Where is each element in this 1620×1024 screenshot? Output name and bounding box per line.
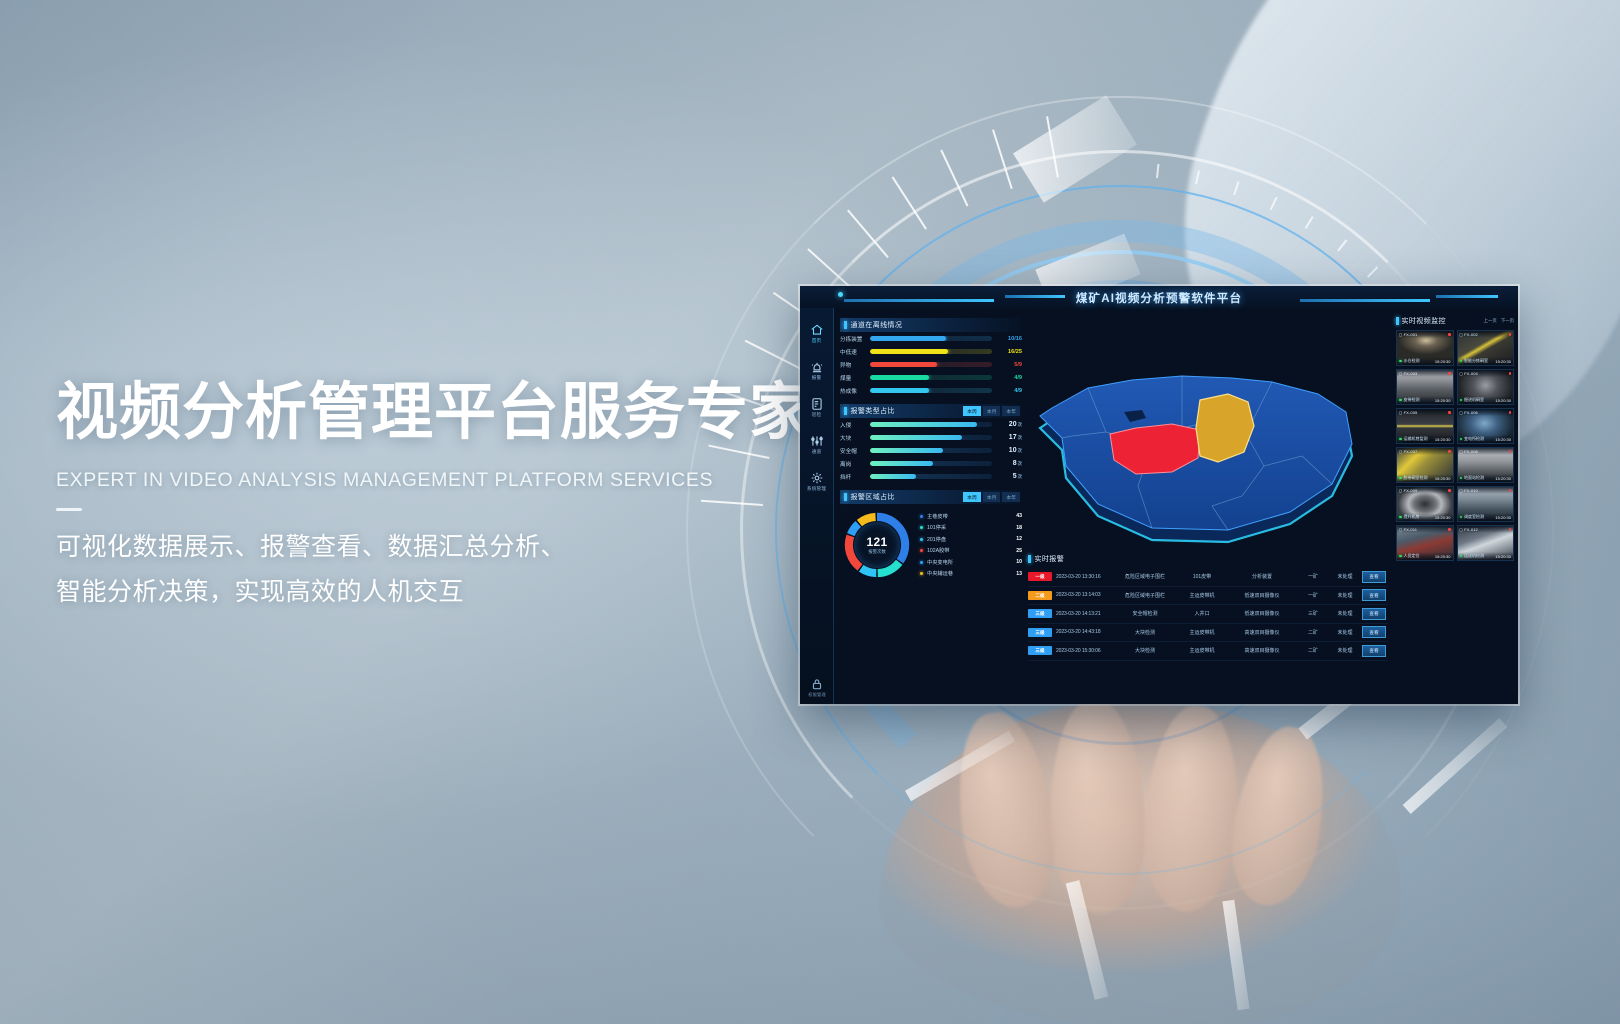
video-tile-bottombar: 智能分拣硐室15:20:30 <box>1458 357 1514 365</box>
camera-timestamp: 15:20:30 <box>1495 554 1511 559</box>
video-tile-topbar: ◻ FX-010 <box>1458 487 1514 494</box>
cell-status: 未处理 <box>1330 647 1360 654</box>
status-badge: 三级 <box>1028 646 1052 655</box>
camera-name: 人员定位 <box>1404 553 1420 559</box>
record-indicator-icon <box>1448 528 1451 531</box>
video-tile[interactable]: ◻ FX-003皮带检测15:20:30 <box>1396 369 1454 405</box>
alarm-type-row: 挡杆5次 <box>840 470 1022 483</box>
alarm-type-row: 大块17次 <box>840 431 1022 444</box>
camera-timestamp: 15:20:30 <box>1435 398 1451 403</box>
cell-time: 2023-03-20 13:14:03 <box>1052 592 1114 598</box>
cell-time: 2023-03-20 14:43:18 <box>1052 629 1114 635</box>
donut-legend-row: 中央变电所10 <box>920 557 1022 569</box>
record-indicator-icon <box>1448 450 1451 453</box>
camera-timestamp: 15:20:30 <box>1435 476 1451 481</box>
legend-value: 10 <box>1016 559 1022 565</box>
online-status-icon <box>1460 555 1463 558</box>
alarm-type-fill <box>870 435 962 440</box>
video-tile-bottombar: 人员定位15:20:30 <box>1397 552 1453 560</box>
sidebar-label-home: 首页 <box>801 338 833 344</box>
camera-id: ◻ FX-005 <box>1399 410 1417 415</box>
online-status-icon <box>1399 477 1402 480</box>
cell-status: 未处理 <box>1330 610 1360 617</box>
video-tile-bottombar: 提升机房15:20:30 <box>1397 513 1453 521</box>
camera-timestamp: 15:20:30 <box>1495 437 1511 442</box>
tab-本年[interactable]: 本年 <box>1002 406 1020 416</box>
channel-row-track <box>870 336 992 341</box>
status-badge: 一级 <box>1028 572 1052 581</box>
record-indicator-icon <box>1509 411 1512 414</box>
camera-id: ◻ FX-012 <box>1460 527 1478 532</box>
alarm-type-rows-list: 入侵20次大块17次安全帽10次离岗8次挡杆5次 <box>840 418 1022 483</box>
cell-status: 未处理 <box>1330 629 1360 636</box>
video-tile[interactable]: ◻ FX-011人员定位15:20:30 <box>1396 525 1454 561</box>
alarm-type-label: 挡杆 <box>840 473 866 481</box>
camera-timestamp: 15:20:30 <box>1435 515 1451 520</box>
table-row[interactable]: 二级2023-03-20 13:14:03危险区域电子围栏主运皮带机低速双目摄像… <box>1028 587 1388 606</box>
status-badge: 二级 <box>1028 591 1052 600</box>
video-tile[interactable]: ◻ FX-002智能分拣硐室15:20:30 <box>1457 330 1515 366</box>
cell-action: 查看 <box>1360 645 1388 657</box>
camera-name: 变电所检测 <box>1464 436 1484 442</box>
header-deco-left2 <box>1005 295 1065 298</box>
alarm-type-track <box>870 448 992 453</box>
video-tile[interactable]: ◻ FX-005运输机巷监测15:20:30 <box>1396 408 1454 444</box>
alarm-type-card-title: 报警类型占比 <box>851 406 895 416</box>
donut-center: 121 报警次数 <box>854 522 900 568</box>
cell-type: 危险区域电子围栏 <box>1114 573 1176 580</box>
video-tile[interactable]: ◻ FX-012运送机检测15:20:30 <box>1457 525 1515 561</box>
channel-row-track <box>870 388 992 393</box>
video-tile-bottombar: 运输机巷监测15:20:30 <box>1397 435 1453 443</box>
video-tile-bottombar: 地面站检测15:20:30 <box>1458 474 1514 482</box>
camera-id: ◻ FX-009 <box>1399 488 1417 493</box>
donut-legend-row: 中央辅运巷13 <box>920 568 1022 580</box>
cell-type: 安全帽检测 <box>1114 610 1176 617</box>
video-tile[interactable]: ◻ FX-010调度室检测15:20:30 <box>1457 486 1515 522</box>
cell-mine: 三矿 <box>1296 610 1330 617</box>
sidebar-item-system[interactable]: 系统管理 <box>801 470 833 492</box>
legend-value: 25 <box>1016 548 1022 554</box>
alarm-type-fill <box>870 474 916 479</box>
alarm-type-label: 安全帽 <box>840 447 866 455</box>
channel-row-label: 热成像 <box>840 387 866 395</box>
alarm-type-value: 10次 <box>996 447 1022 454</box>
channel-row-value: 16/25 <box>996 349 1022 355</box>
channel-row-fill <box>870 362 937 367</box>
donut-legend-row: 101停采18 <box>920 522 1022 534</box>
alarm-type-row: 安全帽10次 <box>840 444 1022 457</box>
channel-row-value: 4/9 <box>996 388 1022 394</box>
legend-value: 13 <box>1016 571 1022 577</box>
video-tile-topbar: ◻ FX-012 <box>1458 526 1514 533</box>
channel-row-value: 10/16 <box>996 336 1022 342</box>
donut-total: 121 <box>867 535 888 549</box>
channel-rows-list: 分拣装置10/16中低速16/25异物5/9煤量4/9热成像4/9 <box>840 332 1022 397</box>
tab-本月[interactable]: 本月 <box>983 492 1001 502</box>
status-badge: 三级 <box>1028 628 1052 637</box>
alarm-type-value: 20次 <box>996 421 1022 428</box>
channel-row: 热成像4/9 <box>840 384 1022 397</box>
alarm-area-card-title: 报警区域占比 <box>851 492 895 502</box>
tab-本年[interactable]: 本年 <box>1002 492 1020 502</box>
video-tile-bottombar: 调度室检测15:20:30 <box>1458 513 1514 521</box>
hero-desc-line-1: 可视化数据展示、报警查看、数据汇总分析、 <box>56 525 836 570</box>
cell-mine: 一矿 <box>1296 573 1330 580</box>
video-monitor-panel: 实时视频监控 上一页 下一页 ◻ FX-001水仓检测15:20:30◻ FX-… <box>1396 316 1514 561</box>
alarm-type-row: 入侵20次 <box>840 418 1022 431</box>
cell-status: 未处理 <box>1330 573 1360 580</box>
alarm-type-fill <box>870 448 943 453</box>
video-panel-header: 实时视频监控 上一页 下一页 <box>1396 316 1514 326</box>
online-status-icon <box>1460 438 1463 441</box>
alarm-area-chart-wrap: 121 报警次数 主巷皮带43101停采18201停盘12102A胶带25中央变… <box>840 508 1022 582</box>
video-tile-bottombar: 运送机检测15:20:30 <box>1458 552 1514 560</box>
cell-time: 2023-03-20 15:30:06 <box>1052 648 1114 654</box>
video-tile-bottombar: 变电所检测15:20:30 <box>1458 435 1514 443</box>
camera-id: ◻ FX-004 <box>1460 371 1478 376</box>
video-tile-topbar: ◻ FX-001 <box>1397 331 1453 338</box>
sidebar-label-channel: 通道 <box>801 449 833 455</box>
alarm-type-track <box>870 474 992 479</box>
divider <box>56 508 82 511</box>
camera-timestamp: 15:20:30 <box>1495 359 1511 364</box>
donut-legend: 主巷皮带43101停采18201停盘12102A胶带25中央变电所10中央辅运巷… <box>914 511 1022 580</box>
header-deco-left <box>844 299 994 302</box>
legend-value: 18 <box>1016 525 1022 531</box>
channel-row-track <box>870 349 992 354</box>
camera-id: ◻ FX-008 <box>1460 449 1478 454</box>
legend-dot <box>920 572 923 575</box>
table-row[interactable]: 三级2023-03-20 15:30:06大块检测主运皮带机高速双目摄像仪二矿未… <box>1028 642 1388 661</box>
legend-name: 主巷皮带 <box>927 513 1016 520</box>
lock-icon <box>800 676 834 691</box>
dashboard-screen: 煤矿AI视频分析预警软件平台 首页 报警 巡检 <box>800 286 1518 704</box>
alarm-type-value: 17次 <box>996 434 1022 441</box>
channel-card-header: 通道在离线情况 <box>840 318 1022 332</box>
camera-timestamp: 15:20:30 <box>1495 476 1511 481</box>
tab-本周[interactable]: 本周 <box>963 492 981 502</box>
hero-text-block: 视频分析管理平台服务专家 EXPERT IN VIDEO ANALYSIS MA… <box>56 378 836 614</box>
online-status-icon <box>1460 477 1463 480</box>
sidebar-item-home[interactable]: 首页 <box>801 322 833 344</box>
cell-device: 分析装置 <box>1228 573 1296 580</box>
gear-icon <box>801 470 833 485</box>
legend-name: 102A胶带 <box>927 547 1016 554</box>
camera-name: 皮带检测 <box>1404 397 1420 403</box>
cell-action: 查看 <box>1360 608 1388 620</box>
header-deco-right <box>1300 299 1430 302</box>
video-tile-topbar: ◻ FX-011 <box>1397 526 1453 533</box>
camera-id: ◻ FX-003 <box>1399 371 1417 376</box>
channel-row-value: 5/9 <box>996 362 1022 368</box>
camera-name: 水仓检测 <box>1404 358 1420 364</box>
home-icon <box>801 322 833 337</box>
camera-timestamp: 15:20:30 <box>1435 437 1451 442</box>
alarm-type-track <box>870 461 992 466</box>
alarm-area-card: 报警区域占比 本周本月本年 121 报警次数 主巷皮带43101停采18201停… <box>840 490 1022 582</box>
hero-desc-line-2: 智能分析决策，实现高效的人机交互 <box>56 570 836 615</box>
channel-row-fill <box>870 336 946 341</box>
camera-id: ◻ FX-006 <box>1460 410 1478 415</box>
video-tile[interactable]: ◻ FX-006变电所检测15:20:30 <box>1457 408 1515 444</box>
channel-row-label: 异物 <box>840 361 866 369</box>
channel-row-track <box>870 362 992 367</box>
camera-timestamp: 15:20:30 <box>1435 554 1451 559</box>
sidebar-label-permission: 权限管理 <box>800 692 834 698</box>
status-badge: 三级 <box>1028 609 1052 618</box>
video-tile[interactable]: ◻ FX-001水仓检测15:20:30 <box>1396 330 1454 366</box>
video-tile-bottombar: 皮带检测15:20:30 <box>1397 396 1453 404</box>
accent-bar-icon <box>844 321 847 329</box>
alarm-type-label: 入侵 <box>840 421 866 429</box>
sidebar-item-permission[interactable]: 权限管理 <box>800 676 834 698</box>
online-status-icon <box>1460 399 1463 402</box>
map-visualization[interactable] <box>1032 316 1372 552</box>
alarm-area-tab-group[interactable]: 本周本月本年 <box>963 492 1022 502</box>
video-tile-topbar: ◻ FX-003 <box>1397 370 1453 377</box>
record-indicator-icon <box>1509 450 1512 453</box>
legend-value: 12 <box>1016 536 1022 542</box>
alarm-area-card-header: 报警区域占比 本周本月本年 <box>840 490 1022 504</box>
video-tile-bottombar: 胶带硐室检测15:20:30 <box>1397 474 1453 482</box>
cell-device: 高速双目摄像仪 <box>1228 629 1296 636</box>
sidebar-label-inspection: 巡检 <box>801 412 833 418</box>
camera-id: ◻ FX-011 <box>1399 527 1417 532</box>
alarm-icon <box>801 359 833 374</box>
cell-time: 2023-03-20 14:13:21 <box>1052 611 1114 617</box>
cell-type: 大块检测 <box>1114 647 1176 654</box>
camera-name: 智能分拣硐室 <box>1464 358 1488 364</box>
sidebar-item-inspection[interactable]: 巡检 <box>801 396 833 418</box>
record-indicator-icon <box>1509 372 1512 375</box>
alarm-type-track <box>870 422 992 427</box>
legend-name: 101停采 <box>927 524 1016 531</box>
cell-location: 主运皮带机 <box>1176 647 1228 654</box>
video-tile[interactable]: ◻ FX-007胶带硐室检测15:20:30 <box>1396 447 1454 483</box>
online-status-icon <box>1399 516 1402 519</box>
camera-timestamp: 15:20:30 <box>1495 515 1511 520</box>
alarm-type-card-header: 报警类型占比 本周本月本年 <box>840 404 1022 418</box>
record-indicator-icon <box>1509 489 1512 492</box>
header-deco-right2 <box>1436 295 1498 298</box>
cell-type: 大块检测 <box>1114 629 1176 636</box>
tab-本周[interactable]: 本周 <box>963 406 981 416</box>
legend-dot <box>920 549 923 552</box>
cell-action: 查看 <box>1360 571 1388 583</box>
channel-row-label: 中低速 <box>840 348 866 356</box>
header-deco-dot <box>838 292 843 297</box>
dashboard-header: 煤矿AI视频分析预警软件平台 <box>800 286 1518 308</box>
cell-device: 低速双目摄像仪 <box>1228 610 1296 617</box>
page-title: 视频分析管理平台服务专家 <box>56 378 836 447</box>
dashboard-sidebar: 首页 报警 巡检 通道 系统管理 <box>800 308 834 704</box>
alarm-type-tab-group[interactable]: 本周本月本年 <box>963 406 1022 416</box>
view-button[interactable]: 查看 <box>1362 645 1386 657</box>
sidebar-label-system: 系统管理 <box>801 486 833 492</box>
cell-time: 2023-03-20 13:30:16 <box>1052 574 1114 580</box>
alarm-type-row: 离岗8次 <box>840 457 1022 470</box>
cell-action: 查看 <box>1360 626 1388 638</box>
legend-dot <box>920 561 923 564</box>
video-tile-bottombar: 掘进机硐室15:20:30 <box>1458 396 1514 404</box>
camera-timestamp: 15:20:30 <box>1495 398 1511 403</box>
view-button[interactable]: 查看 <box>1362 571 1386 583</box>
cell-device: 高速双目摄像仪 <box>1228 647 1296 654</box>
cell-mine: 二矿 <box>1296 647 1330 654</box>
table-row[interactable]: 一级2023-03-20 13:30:16危险区域电子围栏101皮带分析装置一矿… <box>1028 568 1388 587</box>
dashboard-title: 煤矿AI视频分析预警软件平台 <box>800 290 1518 306</box>
realtime-alarm-panel: 实时报警 一级2023-03-20 13:30:16危险区域电子围栏101皮带分… <box>1028 554 1388 661</box>
alarm-type-track <box>870 435 992 440</box>
cell-location: 主运皮带机 <box>1176 592 1228 599</box>
legend-name: 中央变电所 <box>927 559 1016 566</box>
online-status-icon <box>1399 438 1402 441</box>
record-indicator-icon <box>1448 411 1451 414</box>
online-status-icon <box>1399 399 1402 402</box>
online-status-icon <box>1399 360 1402 363</box>
cell-device: 低速双目摄像仪 <box>1228 592 1296 599</box>
camera-name: 提升机房 <box>1404 514 1420 520</box>
accent-bar-icon <box>1028 555 1031 563</box>
video-tile-topbar: ◻ FX-009 <box>1397 487 1453 494</box>
record-indicator-icon <box>1448 333 1451 336</box>
cell-location: 入井口 <box>1176 610 1228 617</box>
channel-status-card: 通道在离线情况 分拣装置10/16中低速16/25异物5/9煤量4/9热成像4/… <box>840 318 1022 397</box>
channel-row-fill <box>870 349 948 354</box>
channel-row-fill <box>870 388 929 393</box>
accent-bar-icon <box>1396 317 1399 325</box>
prev-page-button[interactable]: 上一页 <box>1484 318 1497 324</box>
view-button[interactable]: 查看 <box>1362 608 1386 620</box>
channel-row-label: 分拣装置 <box>840 335 866 343</box>
donut-legend-row: 102A胶带25 <box>920 545 1022 557</box>
camera-name: 胶带硐室检测 <box>1404 475 1428 481</box>
video-tile[interactable]: ◻ FX-004掘进机硐室15:20:30 <box>1457 369 1515 405</box>
channel-row-label: 煤量 <box>840 374 866 382</box>
alarm-table-body: 一级2023-03-20 13:30:16危险区域电子围栏101皮带分析装置一矿… <box>1028 568 1388 661</box>
alarm-type-value: 8次 <box>996 460 1022 467</box>
legend-dot <box>920 515 923 518</box>
cell-location: 主运皮带机 <box>1176 629 1228 636</box>
camera-name: 地面站检测 <box>1464 475 1484 481</box>
view-button[interactable]: 查看 <box>1362 589 1386 601</box>
alarm-type-value: 5次 <box>996 473 1022 480</box>
view-button[interactable]: 查看 <box>1362 626 1386 638</box>
video-tile-topbar: ◻ FX-006 <box>1458 409 1514 416</box>
donut-legend-row: 主巷皮带43 <box>920 511 1022 523</box>
channel-row-value: 4/9 <box>996 375 1022 381</box>
table-row[interactable]: 三级2023-03-20 14:13:21安全帽检测入井口低速双目摄像仪三矿未处… <box>1028 605 1388 624</box>
channel-card-title: 通道在离线情况 <box>851 320 903 330</box>
video-tile-topbar: ◻ FX-005 <box>1397 409 1453 416</box>
cell-type: 危险区域电子围栏 <box>1114 592 1176 599</box>
alarm-type-label: 离岗 <box>840 460 866 468</box>
video-tile-topbar: ◻ FX-007 <box>1397 448 1453 455</box>
record-indicator-icon <box>1509 333 1512 336</box>
legend-value: 43 <box>1016 513 1022 519</box>
legend-dot <box>920 526 923 529</box>
donut-total-caption: 报警次数 <box>868 549 886 555</box>
alarm-table-title: 实时报警 <box>1035 554 1065 564</box>
record-indicator-icon <box>1509 528 1512 531</box>
video-pagination[interactable]: 上一页 下一页 <box>1484 318 1514 324</box>
alarm-table-header: 实时报警 <box>1028 554 1388 564</box>
cell-location: 101皮带 <box>1176 573 1228 580</box>
online-status-icon <box>1460 360 1463 363</box>
channel-row: 煤量4/9 <box>840 371 1022 384</box>
left-panel-column: 通道在离线情况 分拣装置10/16中低速16/25异物5/9煤量4/9热成像4/… <box>840 318 1022 589</box>
video-tile[interactable]: ◻ FX-008地面站检测15:20:30 <box>1457 447 1515 483</box>
channel-row: 异物5/9 <box>840 358 1022 371</box>
record-indicator-icon <box>1448 489 1451 492</box>
legend-name: 中央辅运巷 <box>927 570 1016 577</box>
accent-bar-icon <box>844 407 847 415</box>
donut-legend-row: 201停盘12 <box>920 534 1022 546</box>
channel-row: 中低速16/25 <box>840 345 1022 358</box>
sidebar-label-alarm: 报警 <box>801 375 833 381</box>
cell-action: 查看 <box>1360 589 1388 601</box>
legend-dot <box>920 538 923 541</box>
table-row[interactable]: 三级2023-03-20 14:43:18大块检测主运皮带机高速双目摄像仪二矿未… <box>1028 624 1388 643</box>
video-tile-topbar: ◻ FX-004 <box>1458 370 1514 377</box>
video-tile-topbar: ◻ FX-008 <box>1458 448 1514 455</box>
camera-name: 掘进机硐室 <box>1464 397 1484 403</box>
alarm-type-card: 报警类型占比 本周本月本年 入侵20次大块17次安全帽10次离岗8次挡杆5次 <box>840 404 1022 483</box>
camera-name: 运输机巷监测 <box>1404 436 1428 442</box>
cell-mine: 一矿 <box>1296 592 1330 599</box>
camera-name: 运送机检测 <box>1464 553 1484 559</box>
record-indicator-icon <box>1448 372 1451 375</box>
camera-name: 调度室检测 <box>1464 514 1484 520</box>
camera-id: ◻ FX-007 <box>1399 449 1417 454</box>
video-tile[interactable]: ◻ FX-009提升机房15:20:30 <box>1396 486 1454 522</box>
channel-icon <box>801 433 833 448</box>
province-map-svg <box>1032 316 1372 552</box>
alarm-type-fill <box>870 422 977 427</box>
cell-status: 未处理 <box>1330 592 1360 599</box>
camera-timestamp: 15:20:30 <box>1435 359 1451 364</box>
alarm-type-fill <box>870 461 933 466</box>
alarm-type-label: 大块 <box>840 434 866 442</box>
cell-mine: 二矿 <box>1296 629 1330 636</box>
channel-row-track <box>870 375 992 380</box>
tab-本月[interactable]: 本月 <box>983 406 1001 416</box>
camera-id: ◻ FX-001 <box>1399 332 1417 337</box>
channel-row-fill <box>870 375 929 380</box>
donut-chart: 121 报警次数 <box>840 508 914 582</box>
video-tile-topbar: ◻ FX-002 <box>1458 331 1514 338</box>
accent-bar-icon <box>844 493 847 501</box>
channel-row: 分拣装置10/16 <box>840 332 1022 345</box>
video-panel-title: 实时视频监控 <box>1402 316 1446 326</box>
hero-subtitle: EXPERT IN VIDEO ANALYSIS MANAGEMENT PLAT… <box>56 469 836 492</box>
video-tile-grid: ◻ FX-001水仓检测15:20:30◻ FX-002智能分拣硐室15:20:… <box>1396 330 1514 561</box>
camera-id: ◻ FX-010 <box>1460 488 1478 493</box>
video-tile-bottombar: 水仓检测15:20:30 <box>1397 357 1453 365</box>
online-status-icon <box>1399 555 1402 558</box>
online-status-icon <box>1460 516 1463 519</box>
clipboard-icon <box>801 396 833 411</box>
camera-id: ◻ FX-002 <box>1460 332 1478 337</box>
sidebar-item-channel[interactable]: 通道 <box>801 433 833 455</box>
next-page-button[interactable]: 下一页 <box>1501 318 1514 324</box>
sidebar-item-alarm[interactable]: 报警 <box>801 359 833 381</box>
legend-name: 201停盘 <box>927 536 1016 543</box>
